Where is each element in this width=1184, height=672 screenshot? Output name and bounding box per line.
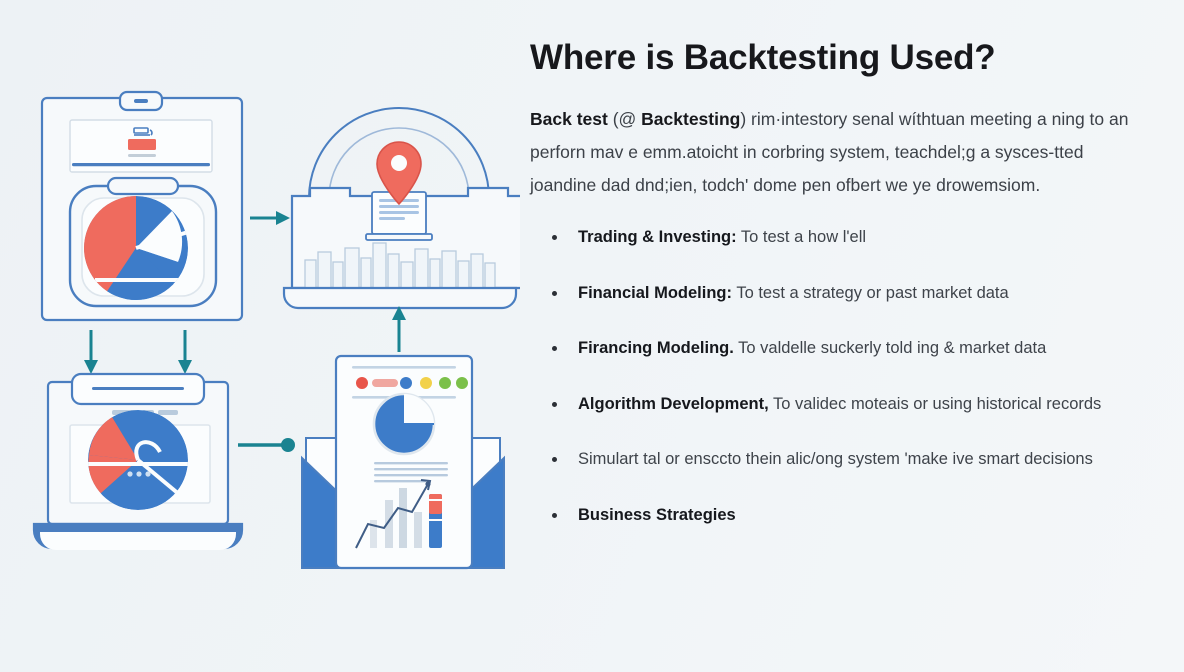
list-item: Trading & Investing: To test a how l'ell bbox=[530, 227, 1154, 248]
lead-strong-b: Backtesting bbox=[641, 109, 740, 129]
bullet-dot-icon bbox=[552, 291, 557, 296]
bullet-label: Firancing Modeling. bbox=[578, 339, 734, 357]
bullet-dot-icon bbox=[552, 235, 557, 240]
illustration-panel bbox=[0, 0, 520, 672]
bullet-dot-icon bbox=[552, 513, 557, 518]
list-item: Business Strategies bbox=[530, 505, 1154, 526]
arrow-up-report-to-map bbox=[392, 306, 406, 352]
report-document-in-envelope bbox=[302, 356, 504, 568]
bullet-dot-icon bbox=[552, 402, 557, 407]
bullet-dot-icon bbox=[552, 346, 557, 351]
bullet-text: To valdelle suckerly told ing & market d… bbox=[738, 339, 1046, 357]
list-item: Algorithm Development, To validec moteai… bbox=[530, 394, 1154, 415]
bullet-label: Business Strategies bbox=[578, 506, 736, 524]
connector-dot-laptop-to-report bbox=[238, 438, 295, 452]
slide-canvas: Where is Backtesting Used? Back test (@ … bbox=[0, 0, 1184, 672]
bullet-text: To test a how l'ell bbox=[741, 228, 866, 246]
lead-mid-a: (@ bbox=[608, 109, 641, 129]
list-item: Financial Modeling: To test a strategy o… bbox=[530, 283, 1154, 304]
use-case-list: Trading & Investing: To test a how l'ell… bbox=[530, 227, 1154, 526]
lead-paragraph: Back test (@ Backtesting) rim·intestory … bbox=[530, 103, 1130, 201]
arrow-down-tablet-to-laptop-left bbox=[84, 330, 98, 374]
bullet-label: Algorithm Development, bbox=[578, 395, 769, 413]
bullet-text: To validec moteais or using historical r… bbox=[773, 395, 1101, 413]
page-title: Where is Backtesting Used? bbox=[530, 38, 1154, 77]
report-pie-chart bbox=[374, 394, 434, 454]
bullet-label: Financial Modeling: bbox=[578, 284, 732, 302]
tablet-header-red-bar bbox=[128, 139, 156, 150]
bullet-text: Simulart tal or ensccto thein alic/ong s… bbox=[578, 450, 1093, 468]
location-pin-over-document-and-cityscape bbox=[284, 108, 520, 308]
list-item: Simulart tal or ensccto thein alic/ong s… bbox=[530, 449, 1154, 470]
illustration-graphic bbox=[0, 0, 520, 672]
lead-strong-a: Back test bbox=[530, 109, 608, 129]
bullet-text: To test a strategy or past market data bbox=[736, 284, 1008, 302]
bullet-dot-icon bbox=[552, 457, 557, 462]
arrow-right-tablet-to-map bbox=[250, 211, 290, 225]
bullet-label: Trading & Investing: bbox=[578, 228, 737, 246]
tablet-with-pie-chart bbox=[42, 92, 242, 320]
text-panel: Where is Backtesting Used? Back test (@ … bbox=[524, 0, 1184, 672]
laptop-with-pie-chart bbox=[34, 374, 242, 550]
arrow-down-tablet-to-laptop-right bbox=[178, 330, 192, 374]
list-item: Firancing Modeling. To valdelle suckerly… bbox=[530, 338, 1154, 359]
